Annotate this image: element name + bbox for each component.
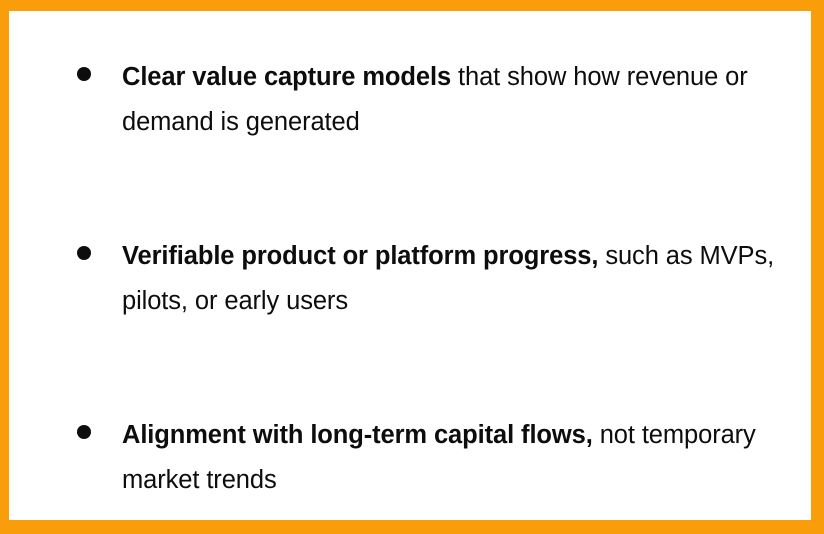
slide-border-top xyxy=(0,0,824,11)
list-item: Alignment with long-term capital flows, … xyxy=(68,413,801,503)
list-item: Clear value capture models that show how… xyxy=(68,55,801,145)
bullet-point-icon xyxy=(77,246,91,260)
slide-border-right xyxy=(811,0,824,534)
slide-border-left xyxy=(0,0,9,534)
bullet-point-icon xyxy=(77,67,91,81)
bullet-lead-phrase: Clear value capture models xyxy=(122,63,451,91)
bullet-list: Clear value capture models that show how… xyxy=(68,55,801,503)
slide-border-bottom xyxy=(0,520,824,534)
bullet-point-icon xyxy=(77,425,91,439)
list-item: Verifiable product or platform progress,… xyxy=(68,234,801,324)
bullet-text: Alignment with long-term capital flows, … xyxy=(122,413,801,503)
bullet-lead-phrase: Verifiable product or platform progress, xyxy=(122,242,598,270)
slide-content-area: Clear value capture models that show how… xyxy=(9,11,811,520)
bullet-lead-phrase: Alignment with long-term capital flows, xyxy=(122,421,593,449)
bullet-text: Clear value capture models that show how… xyxy=(122,55,801,145)
slide-canvas: Clear value capture models that show how… xyxy=(0,0,824,534)
bullet-text: Verifiable product or platform progress,… xyxy=(122,234,801,324)
